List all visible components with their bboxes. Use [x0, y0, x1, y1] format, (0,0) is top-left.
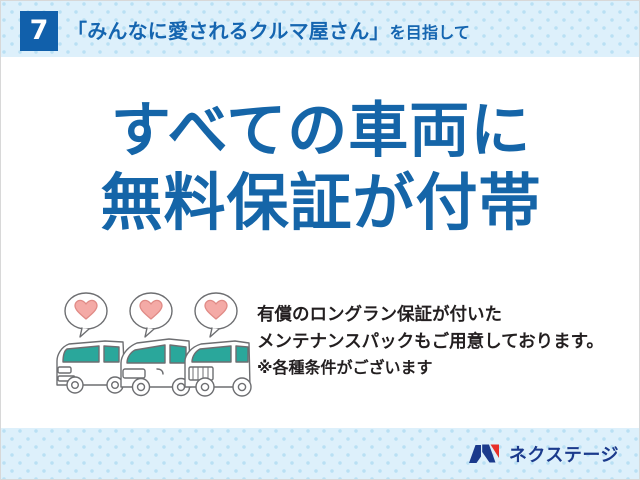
body-text-line-1: 有償のロングラン保証が付いた	[257, 302, 604, 329]
nextage-n-mark-icon	[468, 442, 502, 466]
car-illustration-1	[57, 341, 125, 393]
header-title-quoted: 「みんなに愛されるクルマ屋さん」	[67, 19, 390, 43]
heart-speech-bubble-2	[130, 293, 172, 337]
headline: すべての車両に 無料保証が付帯	[1, 96, 640, 240]
header-title: 「みんなに愛されるクルマ屋さん」を目指して	[67, 12, 470, 52]
heart-speech-bubble-3	[195, 293, 237, 337]
headline-line-2: 無料保証が付帯	[1, 166, 640, 240]
lower-content: 有償のロングラン保証が付いた メンテナンスパックもご用意しております。 ※各種条…	[1, 289, 640, 414]
body-text-note: ※各種条件がございます	[257, 355, 604, 382]
body-text: 有償のロングラン保証が付いた メンテナンスパックもご用意しております。 ※各種条…	[257, 302, 604, 382]
heart-speech-bubble-1	[65, 293, 107, 337]
headline-line-1: すべての車両に	[1, 96, 640, 166]
advertisement-banner: 7 「みんなに愛されるクルマ屋さん」を目指して すべての車両に 無料保証が付帯	[0, 0, 640, 480]
cars-illustration	[53, 289, 253, 399]
body-text-line-2: メンテナンスパックもご用意しております。	[257, 329, 604, 356]
car-illustration-2	[121, 339, 191, 396]
header-band: 7 「みんなに愛されるクルマ屋さん」を目指して	[1, 1, 640, 57]
brand-logo-text: ネクステージ	[509, 441, 619, 467]
section-number-badge: 7	[20, 11, 58, 51]
car-illustration-3	[185, 341, 251, 396]
brand-logo: ネクステージ	[468, 440, 619, 468]
header-title-tail: を目指して	[390, 23, 471, 42]
footer-band: ネクステージ	[1, 428, 640, 480]
